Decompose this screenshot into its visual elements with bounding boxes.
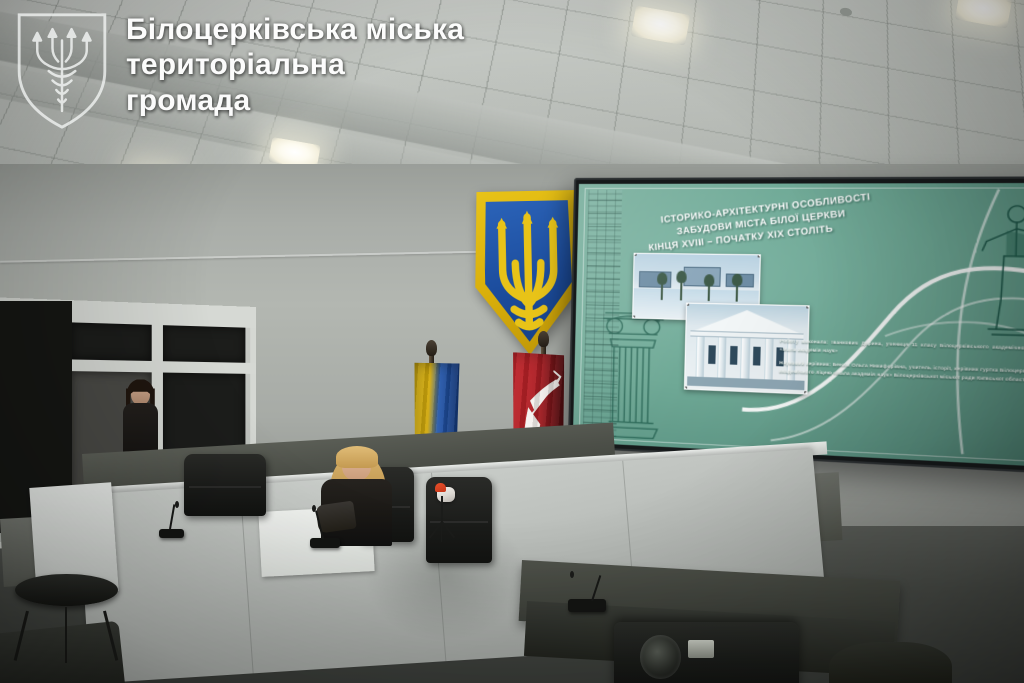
presentation-slide: ІСТОРИКО-АРХІТЕКТУРНІ ОСОБЛИВОСТІ ЗАБУДО…: [573, 183, 1024, 468]
bila-tserkva-coat-of-arms-icon: [14, 12, 110, 130]
flagpole-city-finial: [538, 331, 549, 347]
ukraine-coat-of-arms: [473, 190, 583, 356]
booth-pane-c: [163, 325, 245, 362]
person-behind-glass-partition: [119, 382, 161, 452]
gooseneck-microphone-speaker[interactable]: [301, 507, 352, 548]
mic-base-left: [159, 529, 184, 539]
mic-gooseneck-front: [591, 575, 601, 601]
camera-operator-stool[interactable]: [15, 574, 117, 663]
classical-statue-illustration: [975, 200, 1024, 348]
mic-capsule-left: [175, 501, 179, 508]
camera-rig-secondary: [829, 642, 952, 683]
speaker-hair-top: [336, 446, 379, 468]
watermark-line-1: Білоцерківська міська: [126, 12, 464, 47]
mic-capsule-front: [570, 571, 574, 578]
slide-supervisor-block: Науковий керівник: Бенюк Ольга Никифорів…: [779, 359, 1024, 386]
chair-behind-speaker[interactable]: [184, 454, 266, 515]
handle2-tr: [807, 304, 810, 308]
mic-base: [310, 538, 340, 548]
gooseneck-microphone-front-desk[interactable]: [559, 570, 620, 612]
watermark-line-2: територіальна: [126, 47, 464, 82]
watermark-line-3: громада: [126, 83, 464, 118]
screenshot-root: ІСТОРИКО-АРХІТЕКТУРНІ ОСОБЛИВОСТІ ЗАБУДО…: [0, 0, 1024, 683]
mic-gooseneck: [315, 511, 323, 539]
camera-top-handle: [688, 640, 714, 658]
ionic-column-illustration: [597, 298, 669, 441]
mic-base-front: [568, 599, 606, 612]
flagpole-ukraine-finial: [426, 340, 437, 356]
handle-tr: [758, 254, 761, 258]
led-presentation-screen[interactable]: ІСТОРИКО-АРХІТЕКТУРНІ ОСОБЛИВОСТІ ЗАБУДО…: [568, 177, 1024, 475]
mic-gooseneck-left: [169, 505, 175, 530]
watermark: Білоцерківська міська територіальна гром…: [14, 12, 464, 130]
tripod-leg-3: [441, 522, 455, 539]
person-torso: [123, 403, 158, 455]
stool-seat: [15, 574, 117, 606]
video-camera-rig: [614, 622, 798, 683]
handle2-tl: [685, 303, 689, 306]
camera-lens: [640, 635, 681, 679]
gooseneck-microphone-left[interactable]: [150, 501, 195, 538]
stool-leg-1: [13, 611, 28, 662]
stool-leg-2: [65, 607, 68, 662]
tryzub-icon: [473, 190, 583, 356]
booth-pane-b: [70, 323, 151, 361]
handle-tl: [633, 253, 637, 256]
tripod-leg-1: [441, 522, 443, 542]
stool-leg-3: [103, 611, 118, 662]
watermark-text: Білоцерківська міська територіальна гром…: [126, 12, 464, 118]
press-microphone-on-tripod[interactable]: [422, 520, 462, 542]
